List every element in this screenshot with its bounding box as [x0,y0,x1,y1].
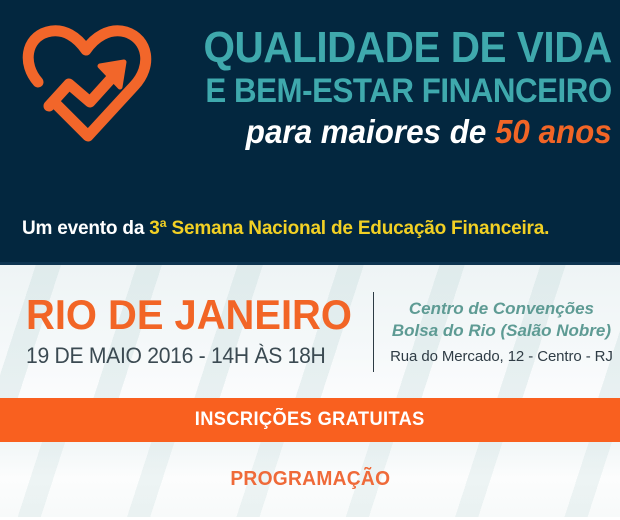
venue-column: Centro de Convenções Bolsa do Rio (Salão… [390,298,617,365]
page-tagline: para maiores de 50 anos [190,115,612,150]
event-prefix: Um evento da [22,218,149,239]
venue-address: Rua do Mercado, 12 - Centro - RJ [390,348,613,365]
info-section: RIO DE JANEIRO 19 DE MAIO 2016 - 14H ÀS … [0,265,620,398]
venue-name-line2: Bolsa do Rio (Salão Nobre) [390,320,613,341]
tagline-prefix: para maiores de [246,113,495,150]
event-attribution: Um evento da 3ª Semana Nacional de Educa… [22,218,549,240]
bottom-section: PROGRAMAÇÃO [0,442,620,517]
vertical-divider [373,292,374,372]
event-date-time: 19 DE MAIO 2016 - 14H ÀS 18H [26,343,355,369]
tagline-highlight: 50 anos [495,113,612,150]
registration-cta-button[interactable]: INSCRIÇÕES GRATUITAS [0,398,620,442]
city-name: RIO DE JANEIRO [26,294,352,336]
city-column: RIO DE JANEIRO 19 DE MAIO 2016 - 14H ÀS … [26,294,369,369]
heart-growth-chart-icon [14,14,164,154]
event-highlight: 3ª Semana Nacional de Educação Financeir… [149,218,549,239]
hero-section: QUALIDADE DE VIDA E BEM-ESTAR FINANCEIRO… [0,0,620,265]
page-title-line2: E BEM-ESTAR FINANCEIRO [204,74,612,108]
event-banner: QUALIDADE DE VIDA E BEM-ESTAR FINANCEIRO… [0,0,620,520]
programacao-link[interactable]: PROGRAMAÇÃO [230,468,390,491]
info-inner: RIO DE JANEIRO 19 DE MAIO 2016 - 14H ÀS … [0,265,620,398]
registration-cta-label: INSCRIÇÕES GRATUITAS [195,409,425,431]
page-title-line1: QUALIDADE DE VIDA [204,26,612,70]
hero-row: QUALIDADE DE VIDA E BEM-ESTAR FINANCEIRO… [0,0,620,154]
title-block: QUALIDADE DE VIDA E BEM-ESTAR FINANCEIRO… [164,22,612,150]
bottom-inner: PROGRAMAÇÃO [0,442,620,517]
venue-name-line1: Centro de Convenções [390,298,613,319]
